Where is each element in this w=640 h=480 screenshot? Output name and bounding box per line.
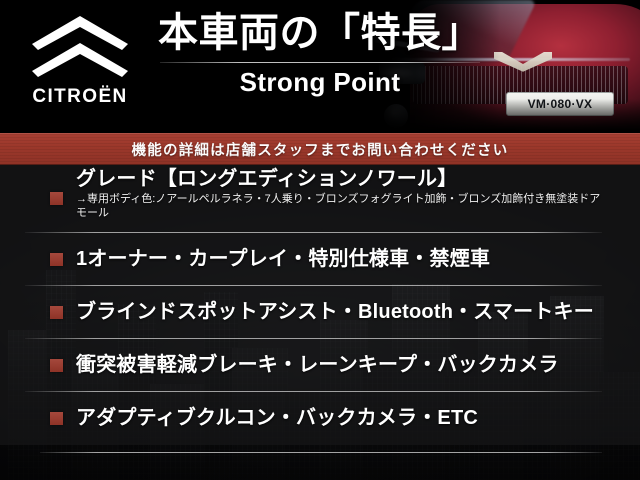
feature-item: アダプティブクルコン・バックカメラ・ETC <box>0 392 640 445</box>
feature-item: ブラインドスポットアシスト・Bluetooth・スマートキー <box>0 286 640 339</box>
feature-title: アダプティブクルコン・バックカメラ・ETC <box>76 406 478 430</box>
contact-banner: 機能の詳細は店舗スタッフまでお問い合わせください <box>0 133 640 165</box>
feature-text-block: 衝突被害軽減ブレーキ・レーンキープ・バックカメラ <box>76 353 579 377</box>
feature-text-block: ブラインドスポットアシスト・Bluetooth・スマートキー <box>76 300 614 324</box>
feature-text-block: 1オーナー・カープレイ・特別仕様車・禁煙車 <box>76 247 510 271</box>
feature-text-block: アダプティブクルコン・バックカメラ・ETC <box>76 406 498 430</box>
bottom-divider <box>40 452 602 453</box>
feature-description: →専用ボディ色:ノアールペルラネラ・7人乗り・ブロンズフォグライト加飾・ブロンズ… <box>76 192 606 220</box>
feature-item: グレード【ロングエディションノワール】 →専用ボディ色:ノアールペルラネラ・7人… <box>0 165 640 233</box>
photo-fade-bottom <box>370 99 640 133</box>
feature-title: 衝突被害軽減ブレーキ・レーンキープ・バックカメラ <box>76 353 559 377</box>
bullet-square-icon <box>50 412 63 425</box>
contact-banner-text: 機能の詳細は店舗スタッフまでお問い合わせください <box>132 139 509 160</box>
bullet-square-icon <box>50 253 63 266</box>
header-titles: 本車両の「特長」 Strong Point <box>150 12 490 98</box>
citroen-wordmark: CITROËN <box>32 86 127 108</box>
citroen-double-chevron-icon <box>28 14 132 84</box>
bullet-square-icon <box>50 192 63 205</box>
feature-text-block: グレード【ロングエディションノワール】 →専用ボディ色:ノアールペルラネラ・7人… <box>76 165 626 221</box>
bullet-square-icon <box>50 359 63 372</box>
feature-title: ブラインドスポットアシスト・Bluetooth・スマートキー <box>76 300 594 324</box>
feature-title: グレード【ロングエディションノワール】 <box>76 167 606 191</box>
citroen-logo: CITROËN <box>16 14 144 118</box>
header-banner: VM·080·VX CITROËN 本車両の「特長」 Strong Point <box>0 0 640 133</box>
headline-english: Strong Point <box>150 67 490 98</box>
slide-root: VM·080·VX CITROËN 本車両の「特長」 Strong Point … <box>0 0 640 480</box>
feature-list: グレード【ロングエディションノワール】 →専用ボディ色:ノアールペルラネラ・7人… <box>0 165 640 455</box>
feature-item: 衝突被害軽減ブレーキ・レーンキープ・バックカメラ <box>0 339 640 392</box>
headline-japanese: 本車両の「特長」 <box>150 12 490 55</box>
feature-item: 1オーナー・カープレイ・特別仕様車・禁煙車 <box>0 233 640 286</box>
feature-title: 1オーナー・カープレイ・特別仕様車・禁煙車 <box>76 247 490 271</box>
headline-divider <box>160 62 480 63</box>
bullet-square-icon <box>50 306 63 319</box>
